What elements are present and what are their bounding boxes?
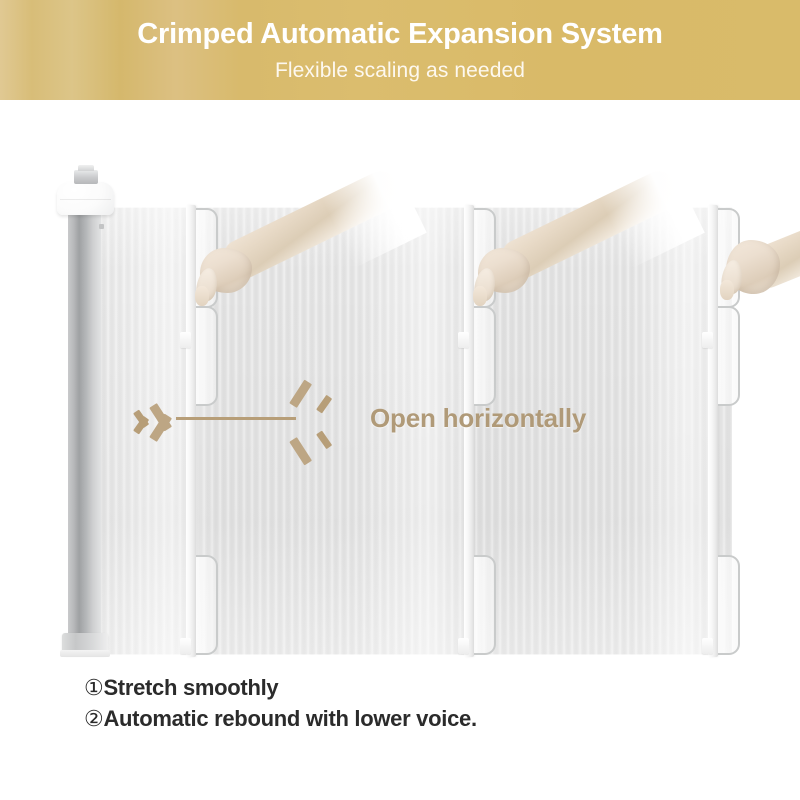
header-banner: Crimped Automatic Expansion System Flexi… [0,0,800,100]
handle-bracket-1-bottom [196,555,218,655]
handle-bracket-2-mid [474,306,496,406]
list-text-2: Automatic rebound with lower voice. [103,706,476,731]
handle-nub-1-bottom [180,638,191,654]
handle-nub-2 [458,332,469,348]
open-horizontally-annotation: Open horizontally [136,392,586,444]
chevron-left-large-icon [153,394,179,442]
page-subtitle: Flexible scaling as needed [0,59,800,83]
list-marker-1: ① [84,675,103,700]
roller-housing [68,212,101,649]
chevron-right-large-icon [293,394,319,442]
hand-2-fingertip [473,286,487,306]
handle-nub-1 [180,332,191,348]
handle-nub-3 [702,332,713,348]
double-arrow-shaft-icon [176,417,296,420]
list-item: ①Stretch smoothly [84,672,724,703]
infographic-page: Crimped Automatic Expansion System Flexi… [0,0,800,800]
list-item: ②Automatic rebound with lower voice. [84,703,724,734]
hand-1-fingertip [195,286,209,306]
handle-bracket-2-bottom [474,555,496,655]
roller-cap-seam [60,199,111,200]
handle-nub-2-bottom [458,638,469,654]
page-title: Crimped Automatic Expansion System [0,18,800,51]
top-mounting-bracket [74,170,98,184]
list-text-1: Stretch smoothly [103,675,278,700]
handle-nub-3-bottom [702,638,713,654]
feature-list: ①Stretch smoothly ②Automatic rebound wit… [84,672,724,734]
edge-bar-section-3 [708,205,718,657]
hand-3-fingertip [720,280,734,300]
list-marker-2: ② [84,706,103,731]
handle-bracket-3-mid [718,306,740,406]
roller-screw-icon [99,224,104,229]
chevron-right-icon [319,402,336,435]
top-mounting-bracket-screw [78,165,94,171]
roller-base-foot [60,650,110,657]
product-illustration: Open horizontally [0,100,800,660]
handle-bracket-3-bottom [718,555,740,655]
handle-bracket-1-mid [196,306,218,406]
annotation-label: Open horizontally [370,403,586,434]
